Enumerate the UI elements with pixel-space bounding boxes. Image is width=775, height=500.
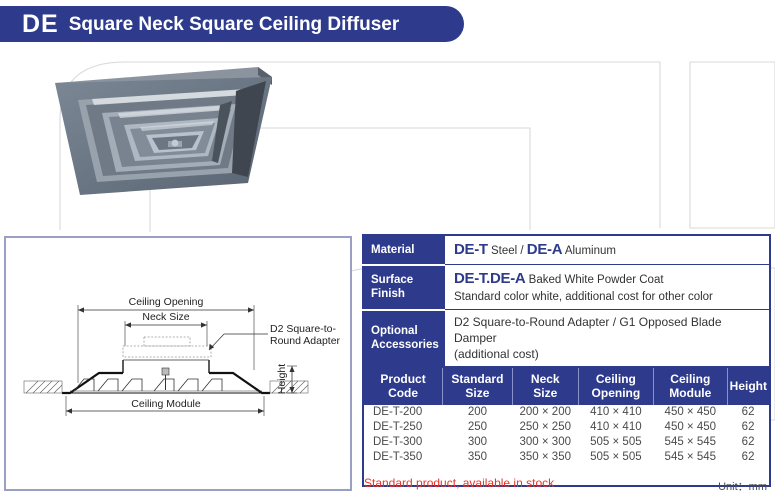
col-header-line: Neck xyxy=(515,372,576,386)
col-header-line: Module xyxy=(656,386,725,400)
col-header-standard-size: Standard Size xyxy=(443,367,513,405)
material-de-t: DE-T xyxy=(454,241,488,258)
spec-label-line: Material xyxy=(371,243,445,257)
cell-ceiling-module: 545 × 545 xyxy=(653,450,727,465)
col-header-line: Product xyxy=(366,372,440,386)
col-header-line: Size xyxy=(515,386,576,400)
cell-neck-size: 200 × 200 xyxy=(512,405,578,420)
cell-height: 62 xyxy=(727,405,770,420)
cell-height: 62 xyxy=(727,450,770,465)
material-steel-text: Steel / xyxy=(488,245,527,257)
cell-standard-size: 250 xyxy=(443,420,513,435)
cell-product-code: DE-T-300 xyxy=(363,435,443,450)
cell-neck-size: 350 × 350 xyxy=(512,450,578,465)
col-header-line: Size xyxy=(445,386,510,400)
cell-neck-size: 300 × 300 xyxy=(512,435,578,450)
technical-drawing-panel: Ceiling Opening Neck Size D2 Square-to- … xyxy=(4,236,352,491)
spec-row-surface-finish: Surface Finish DE-T.DE-A Baked White Pow… xyxy=(363,265,770,310)
cell-neck-size: 250 × 250 xyxy=(512,420,578,435)
cell-height: 62 xyxy=(727,435,770,450)
dim-label-ceiling-opening: Ceiling Opening xyxy=(129,296,204,308)
page-title-bar: DE Square Neck Square Ceiling Diffuser xyxy=(0,6,464,42)
cell-standard-size: 300 xyxy=(443,435,513,450)
spec-row-material: Material DE-T Steel / DE-A Aluminum xyxy=(363,235,770,265)
col-header-line: Ceiling xyxy=(656,372,725,386)
cell-product-code: DE-T-350 xyxy=(363,450,443,465)
col-header-line: Code xyxy=(366,386,440,400)
spec-value-optional-accessories: D2 Square-to-Round Adapter / G1 Opposed … xyxy=(445,310,770,368)
col-header-line: Opening xyxy=(581,386,651,400)
cell-ceiling-opening: 505 × 505 xyxy=(578,450,653,465)
col-header-line: Standard xyxy=(445,372,510,386)
col-header-line: Ceiling xyxy=(581,372,651,386)
table-header-row: Product Code Standard Size Neck Size Cei… xyxy=(363,367,770,405)
cell-product-code: DE-T-250 xyxy=(363,420,443,435)
dim-label-ceiling-module: Ceiling Module xyxy=(131,398,201,410)
spec-label-line: Surface xyxy=(371,273,445,287)
table-row: DE-T-300 300 300 × 300 505 × 505 545 × 5… xyxy=(363,435,770,450)
spec-label-material: Material xyxy=(363,235,445,265)
callout-adapter-line2: Round Adapter xyxy=(270,335,341,347)
spec-label-optional-accessories: Optional Accessories xyxy=(363,310,445,368)
product-code-badge: DE xyxy=(22,12,59,37)
accessories-line1: D2 Square-to-Round Adapter / G1 Opposed … xyxy=(454,314,763,346)
col-header-neck-size: Neck Size xyxy=(512,367,578,405)
stock-availability-note: Standard product, available in stock xyxy=(364,476,554,490)
cell-ceiling-module: 545 × 545 xyxy=(653,435,727,450)
spec-label-line: Optional xyxy=(371,324,445,338)
cell-product-code: DE-T-200 xyxy=(363,405,443,420)
product-image xyxy=(40,55,340,230)
cell-standard-size: 350 xyxy=(443,450,513,465)
product-dimension-table: Product Code Standard Size Neck Size Cei… xyxy=(362,366,771,487)
spec-label-surface-finish: Surface Finish xyxy=(363,265,445,310)
table-row: DE-T-250 250 250 × 250 410 × 410 450 × 4… xyxy=(363,420,770,435)
cell-standard-size: 200 xyxy=(443,405,513,420)
cross-section-drawing: Ceiling Opening Neck Size D2 Square-to- … xyxy=(6,238,346,485)
spec-label-line: Finish xyxy=(371,287,445,301)
cell-height: 62 xyxy=(727,420,770,435)
cell-ceiling-module: 450 × 450 xyxy=(653,405,727,420)
material-de-a: DE-A xyxy=(527,241,562,258)
spec-label-line: Accessories xyxy=(371,338,445,352)
col-header-ceiling-opening: Ceiling Opening xyxy=(578,367,653,405)
spec-row-optional-accessories: Optional Accessories D2 Square-to-Round … xyxy=(363,310,770,368)
spec-value-material: DE-T Steel / DE-A Aluminum xyxy=(445,235,770,265)
callout-adapter-line1: D2 Square-to- xyxy=(270,323,336,335)
finish-models: DE-T.DE-A xyxy=(454,270,525,287)
table-row: DE-T-350 350 350 × 350 505 × 505 545 × 5… xyxy=(363,450,770,465)
cell-ceiling-opening: 505 × 505 xyxy=(578,435,653,450)
dim-label-neck-size: Neck Size xyxy=(142,311,189,323)
cell-ceiling-opening: 410 × 410 xyxy=(578,420,653,435)
col-header-line: Height xyxy=(730,379,767,393)
material-aluminum-text: Aluminum xyxy=(562,245,616,257)
unit-note: Unit：mm xyxy=(718,478,767,494)
dim-label-height: Height xyxy=(276,364,288,394)
col-header-height: Height xyxy=(727,367,770,405)
finish-coat-text: Baked White Powder Coat xyxy=(525,274,663,286)
page-title: Square Neck Square Ceiling Diffuser xyxy=(69,15,400,34)
spec-value-surface-finish: DE-T.DE-A Baked White Powder Coat Standa… xyxy=(445,265,770,310)
cell-ceiling-opening: 410 × 410 xyxy=(578,405,653,420)
cell-ceiling-module: 450 × 450 xyxy=(653,420,727,435)
accessories-line2: (additional cost) xyxy=(454,346,763,362)
table-row: DE-T-200 200 200 × 200 410 × 410 450 × 4… xyxy=(363,405,770,420)
col-header-product-code: Product Code xyxy=(363,367,443,405)
col-header-ceiling-module: Ceiling Module xyxy=(653,367,727,405)
finish-color-note: Standard color white, additional cost fo… xyxy=(454,290,763,306)
